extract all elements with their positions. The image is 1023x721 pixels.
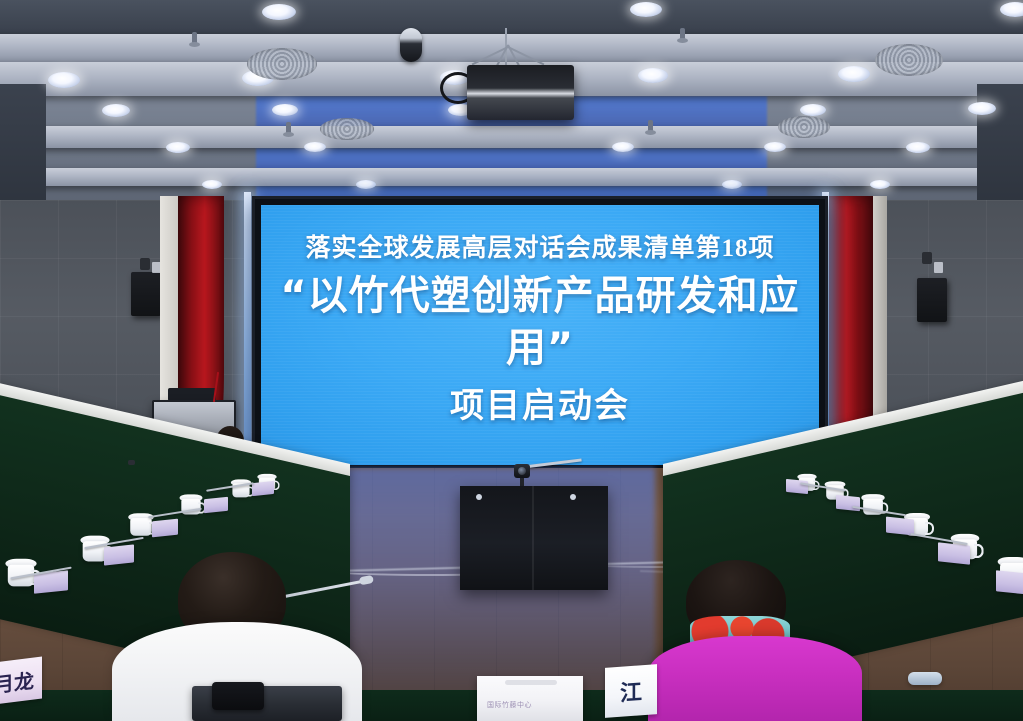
downlight: [870, 180, 890, 189]
teacup: [231, 479, 251, 498]
downlight: [722, 180, 742, 189]
dome-camera-icon: [400, 28, 422, 62]
downlight: [838, 66, 870, 82]
tissue-box-logo: 国际竹藤中心: [487, 700, 532, 710]
downlight: [630, 2, 662, 17]
led-screen-frame: 落实全球发展高层对话会成果清单第18项 “以竹代塑创新产品研发和应用” 项目启动…: [252, 196, 828, 474]
water-bottle: [908, 672, 942, 685]
smartphone: [212, 682, 264, 710]
speaker-bracket: [140, 258, 150, 270]
screen-text-block: 落实全球发展高层对话会成果清单第18项 “以竹代塑创新产品研发和应用” 项目启动…: [261, 233, 819, 428]
wall-plate: [934, 262, 943, 273]
projector: [467, 65, 574, 120]
downlight: [262, 4, 296, 20]
sprinkler-icon: [192, 32, 197, 44]
teacup: [5, 558, 36, 587]
downlight: [102, 104, 130, 117]
microphone-head: [128, 460, 135, 465]
video-camera: [514, 464, 530, 478]
air-vent-icon: [875, 44, 943, 76]
air-vent-icon: [247, 48, 317, 80]
nameplate: [204, 497, 228, 514]
sprinkler-icon: [648, 120, 653, 132]
downlight: [968, 102, 996, 115]
downlight: [800, 104, 826, 116]
tissue-box: 国际竹藤中心: [477, 676, 583, 721]
downlight: [48, 72, 80, 88]
air-vent-icon: [320, 118, 374, 140]
downlight: [906, 142, 930, 153]
downlight: [612, 142, 634, 152]
downlight: [764, 142, 786, 152]
speaker-bracket: [922, 252, 932, 264]
nameplate: [836, 495, 860, 512]
nameplate-foreground-left: 月龙: [0, 657, 42, 706]
sprinkler-icon: [680, 28, 685, 40]
screen-line-title: “以竹代塑创新产品研发和应用”: [261, 270, 819, 374]
wall-speaker: [917, 278, 947, 322]
center-cabinet: [460, 486, 608, 590]
downlight: [1000, 2, 1023, 17]
wall-speaker: [131, 272, 161, 316]
ceiling: [0, 0, 1023, 215]
downlight: [638, 68, 668, 83]
nameplate: [152, 519, 178, 538]
screen-line-subtitle: 落实全球发展高层对话会成果清单第18项: [261, 233, 819, 264]
nameplate: [786, 479, 808, 494]
air-vent-icon: [778, 116, 830, 138]
downlight: [304, 142, 326, 152]
downlight: [166, 142, 190, 153]
tissue-slot: [505, 680, 557, 685]
downlight: [202, 180, 222, 189]
sprinkler-icon: [286, 122, 291, 134]
nameplate: [252, 481, 274, 496]
nameplate: [938, 542, 970, 564]
downlight: [356, 180, 376, 189]
led-screen: 落实全球发展高层对话会成果清单第18项 “以竹代塑创新产品研发和应用” 项目启动…: [261, 205, 819, 465]
magenta-blazer-torso: [648, 636, 862, 721]
downlight: [272, 104, 298, 116]
nameplate: [104, 544, 134, 565]
nameplate: [996, 570, 1023, 595]
conference-room-photo: 落实全球发展高层对话会成果清单第18项 “以竹代塑创新产品研发和应用” 项目启动…: [0, 0, 1023, 721]
screen-line-event: 项目启动会: [261, 384, 819, 428]
nameplate-foreground-right: 江: [605, 664, 657, 718]
screen-edge-glow: [244, 192, 251, 474]
